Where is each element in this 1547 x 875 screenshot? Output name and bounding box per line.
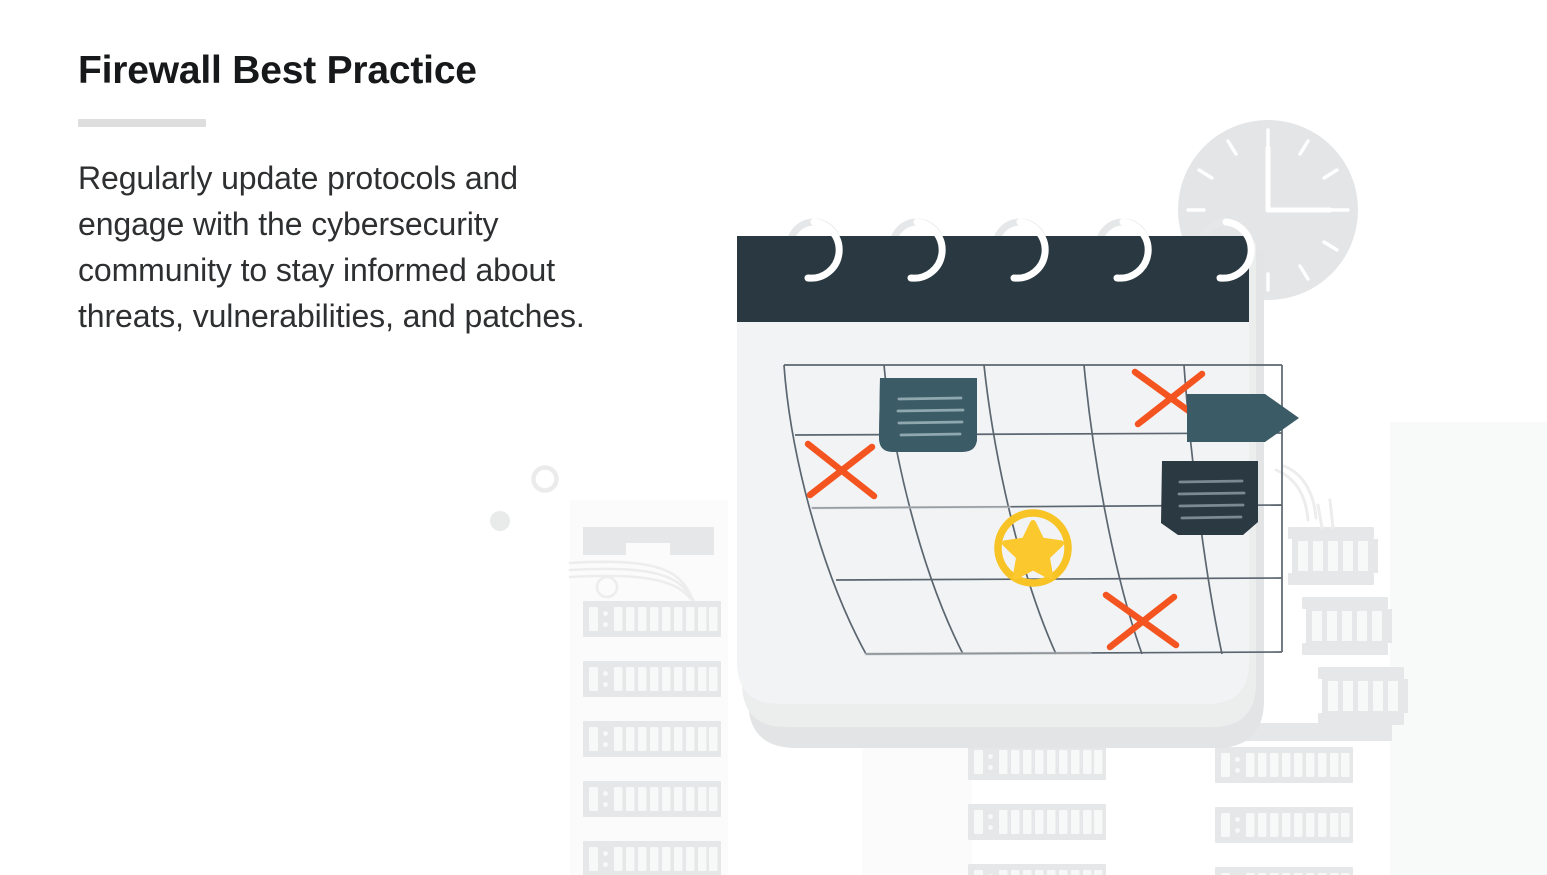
slide-canvas: Firewall Best Practice Regularly update … (0, 0, 1547, 875)
calendar-illustration (0, 0, 1547, 875)
sticky-note-teal (879, 378, 977, 452)
sticky-note-dark (1161, 461, 1258, 535)
